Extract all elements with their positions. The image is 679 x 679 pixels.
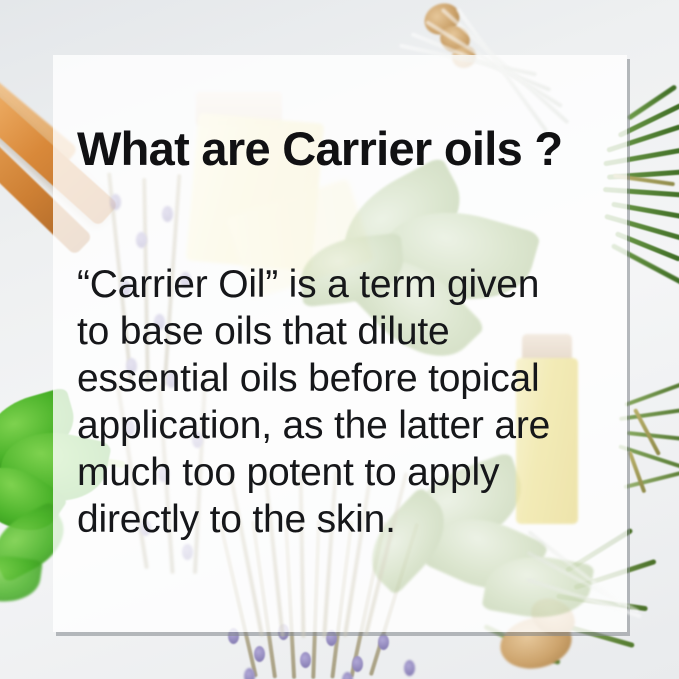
body-line: to base oils that dilute	[77, 308, 617, 355]
body-line: essential oils before topical	[77, 355, 617, 402]
body-line: much too potent to apply	[77, 449, 617, 496]
body-line: “Carrier Oil” is a term given	[77, 261, 617, 308]
lavender-bud-icon	[378, 634, 389, 650]
lavender-bud-icon	[326, 630, 337, 646]
body-line: directly to the skin.	[77, 496, 617, 543]
card-text-layer: What are Carrier oils ? “Carrier Oil” is…	[53, 55, 627, 632]
infographic-canvas: What are Carrier oils ? “Carrier Oil” is…	[0, 0, 679, 679]
lavender-bud-icon	[352, 656, 363, 672]
body-line: application, as the latter are	[77, 402, 617, 449]
lavender-bud-icon	[404, 660, 415, 676]
body-paragraph: “Carrier Oil” is a term given to base oi…	[77, 261, 617, 543]
lavender-bud-icon	[300, 652, 311, 668]
page-title: What are Carrier oils ?	[77, 121, 562, 176]
lavender-bud-icon	[254, 646, 265, 662]
lavender-bud-icon	[244, 668, 255, 679]
